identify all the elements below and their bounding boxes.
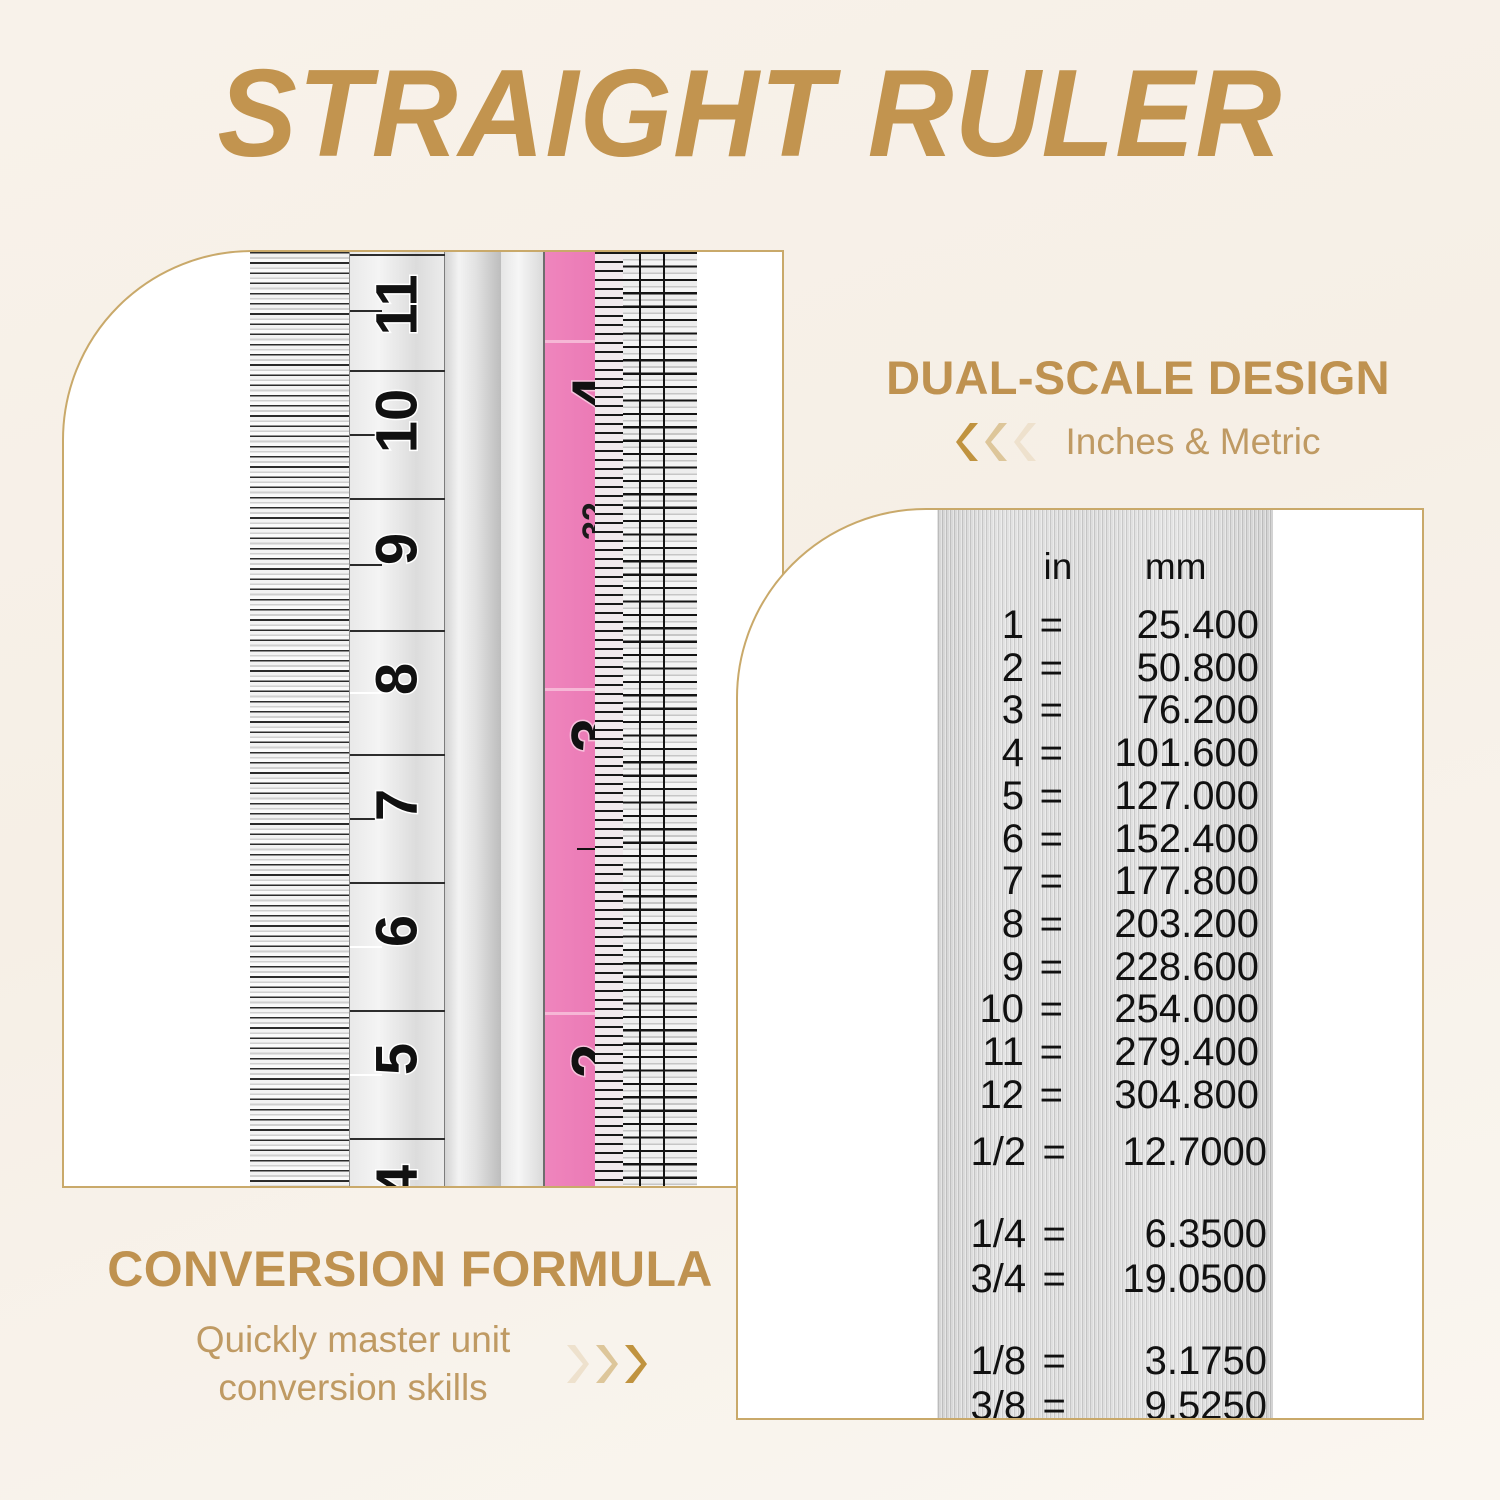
feature-subtitle: Inches & Metric — [1066, 421, 1321, 463]
cell-equals: = — [1024, 1074, 1079, 1117]
cell-inches: 7 — [937, 860, 1024, 903]
chevron-right-icon — [592, 1343, 618, 1385]
conversion-row: 3=76.200 — [937, 689, 1273, 732]
cell-equals: = — [1024, 604, 1079, 647]
cell-inches: 3/8 — [937, 1384, 1026, 1420]
conversion-row: 1=25.400 — [937, 604, 1273, 647]
cell-equals: = — [1024, 1031, 1079, 1074]
feature-dual-scale: DUAL-SCALE DESIGN Inches & Metric — [828, 350, 1448, 463]
cell-inches: 4 — [937, 732, 1024, 775]
feature-subtitle-row: Quickly master unit conversion skills — [60, 1316, 760, 1412]
cell-millimeters: 12.7000 — [1082, 1130, 1273, 1176]
cell-equals: = — [1024, 818, 1079, 861]
inch-fractional-tick-field — [623, 252, 697, 1186]
cell-equals: = — [1024, 903, 1079, 946]
conversion-row: 5=127.000 — [937, 775, 1273, 818]
column-header-inches: in — [937, 546, 1078, 588]
conversion-row: 6=152.400 — [937, 818, 1273, 861]
conversion-row: 7=177.800 — [937, 860, 1273, 903]
cell-millimeters: 19.0500 — [1082, 1257, 1273, 1303]
metric-number: 4 — [369, 1134, 427, 1189]
chevron-right-icon — [563, 1343, 589, 1385]
cell-inches: 5 — [937, 775, 1024, 818]
cell-inches: 2 — [937, 647, 1024, 690]
cell-inches: 6 — [937, 818, 1024, 861]
conversion-row: 10=254.000 — [937, 988, 1273, 1031]
conversion-row: 11=279.400 — [937, 1031, 1273, 1074]
ruler-spine-secondary — [501, 252, 545, 1186]
fraction-row: 1/4=6.3500 — [937, 1212, 1273, 1258]
cell-equals: = — [1026, 1212, 1082, 1258]
cell-millimeters: 127.000 — [1079, 775, 1273, 818]
cell-equals: = — [1024, 860, 1079, 903]
chevron-right-group — [563, 1343, 647, 1385]
cell-inches: 10 — [937, 988, 1024, 1031]
feature-subtitle-row: Inches & Metric — [828, 421, 1448, 463]
cell-equals: = — [1024, 732, 1079, 775]
cell-millimeters: 101.600 — [1079, 732, 1273, 775]
cell-equals: = — [1024, 775, 1079, 818]
cell-inches: 3/4 — [937, 1257, 1026, 1303]
conversion-row: 2=50.800 — [937, 647, 1273, 690]
chevron-right-icon — [621, 1343, 647, 1385]
metric-number: 9 — [369, 502, 427, 597]
metric-number: 10 — [369, 374, 427, 469]
cell-inches: 1/8 — [937, 1339, 1026, 1385]
conversion-table-panel: in mm 1=25.4002=50.8003=76.2004=101.6005… — [736, 508, 1424, 1420]
cell-millimeters: 304.800 — [1079, 1074, 1273, 1117]
feature-conversion-formula: CONVERSION FORMULA Quickly master unit c… — [60, 1240, 760, 1412]
cell-millimeters: 203.200 — [1079, 903, 1273, 946]
cell-equals: = — [1026, 1384, 1082, 1420]
ruler-macro-photo: 11 10 9 8 7 6 5 4 4 32 3 2 — [64, 252, 782, 1186]
conversion-table-fraction-rows: 1/2=12.70001/4=6.35003/4=19.05001/8=3.17… — [937, 1130, 1273, 1420]
cell-inches: 3 — [937, 689, 1024, 732]
conversion-table-whole-rows: 1=25.4002=50.8003=76.2004=101.6005=127.0… — [937, 604, 1273, 1117]
cell-millimeters: 3.1750 — [1082, 1339, 1273, 1385]
metric-tick-field — [250, 252, 350, 1186]
metric-number-column: 11 10 9 8 7 6 5 4 — [350, 252, 445, 1186]
ruler-photo-panel: 11 10 9 8 7 6 5 4 4 32 3 2 — [62, 250, 784, 1188]
cell-inches: 11 — [937, 1031, 1024, 1074]
cell-millimeters: 152.400 — [1079, 818, 1273, 861]
fraction-row: 1/2=12.7000 — [937, 1130, 1273, 1176]
fraction-group: 1/8=3.17503/8=9.52505/8=15.8750 — [937, 1339, 1273, 1420]
conversion-row: 8=203.200 — [937, 903, 1273, 946]
feature-title: DUAL-SCALE DESIGN — [828, 350, 1448, 405]
cell-millimeters: 177.800 — [1079, 860, 1273, 903]
column-header-millimeters: mm — [1078, 546, 1273, 588]
metric-number: 6 — [369, 884, 427, 979]
inch-fine-graduations-pink — [595, 252, 623, 1186]
cell-equals: = — [1026, 1257, 1082, 1303]
cell-inches: 9 — [937, 946, 1024, 989]
cell-equals: = — [1024, 946, 1079, 989]
cell-millimeters: 279.400 — [1079, 1031, 1273, 1074]
cell-millimeters: 50.800 — [1079, 647, 1273, 690]
feature-title: CONVERSION FORMULA — [60, 1240, 760, 1298]
chevron-left-icon — [956, 421, 982, 463]
metric-number: 5 — [369, 1012, 427, 1107]
cell-millimeters: 9.5250 — [1082, 1384, 1273, 1420]
cell-equals: = — [1024, 647, 1079, 690]
metal-plate: in mm 1=25.4002=50.8003=76.2004=101.6005… — [937, 510, 1273, 1418]
metric-number: 8 — [369, 632, 427, 727]
cell-millimeters: 25.400 — [1079, 604, 1273, 647]
page-canvas: STRAIGHT RULER 11 — [0, 0, 1500, 1500]
fraction-group: 1/4=6.35003/4=19.0500 — [937, 1212, 1273, 1303]
fraction-group: 1/2=12.7000 — [937, 1130, 1273, 1176]
cell-millimeters: 254.000 — [1079, 988, 1273, 1031]
cell-inches: 1 — [937, 604, 1024, 647]
cell-equals: = — [1026, 1130, 1082, 1176]
metric-number: 11 — [369, 258, 427, 353]
feature-subtitle: Quickly master unit conversion skills — [173, 1316, 533, 1412]
cell-equals: = — [1024, 689, 1079, 732]
cell-equals: = — [1024, 988, 1079, 1031]
cell-millimeters: 6.3500 — [1082, 1212, 1273, 1258]
conversion-table-header: in mm — [937, 546, 1273, 588]
cell-millimeters: 228.600 — [1079, 946, 1273, 989]
conversion-row: 12=304.800 — [937, 1074, 1273, 1117]
conversion-row: 9=228.600 — [937, 946, 1273, 989]
page-title: STRAIGHT RULER — [30, 52, 1470, 176]
ruler-spine — [445, 252, 501, 1186]
cell-millimeters: 76.200 — [1079, 689, 1273, 732]
cell-inches: 1/2 — [937, 1130, 1026, 1176]
fraction-row: 3/8=9.5250 — [937, 1384, 1273, 1420]
fraction-row: 1/8=3.1750 — [937, 1339, 1273, 1385]
fraction-row: 3/4=19.0500 — [937, 1257, 1273, 1303]
cell-inches: 8 — [937, 903, 1024, 946]
metric-number: 7 — [369, 758, 427, 853]
chevron-left-group — [956, 421, 1040, 463]
chevron-left-icon — [985, 421, 1011, 463]
chevron-left-icon — [1014, 421, 1040, 463]
cell-inches: 1/4 — [937, 1212, 1026, 1258]
cell-equals: = — [1026, 1339, 1082, 1385]
conversion-row: 4=101.600 — [937, 732, 1273, 775]
cell-inches: 12 — [937, 1074, 1024, 1117]
